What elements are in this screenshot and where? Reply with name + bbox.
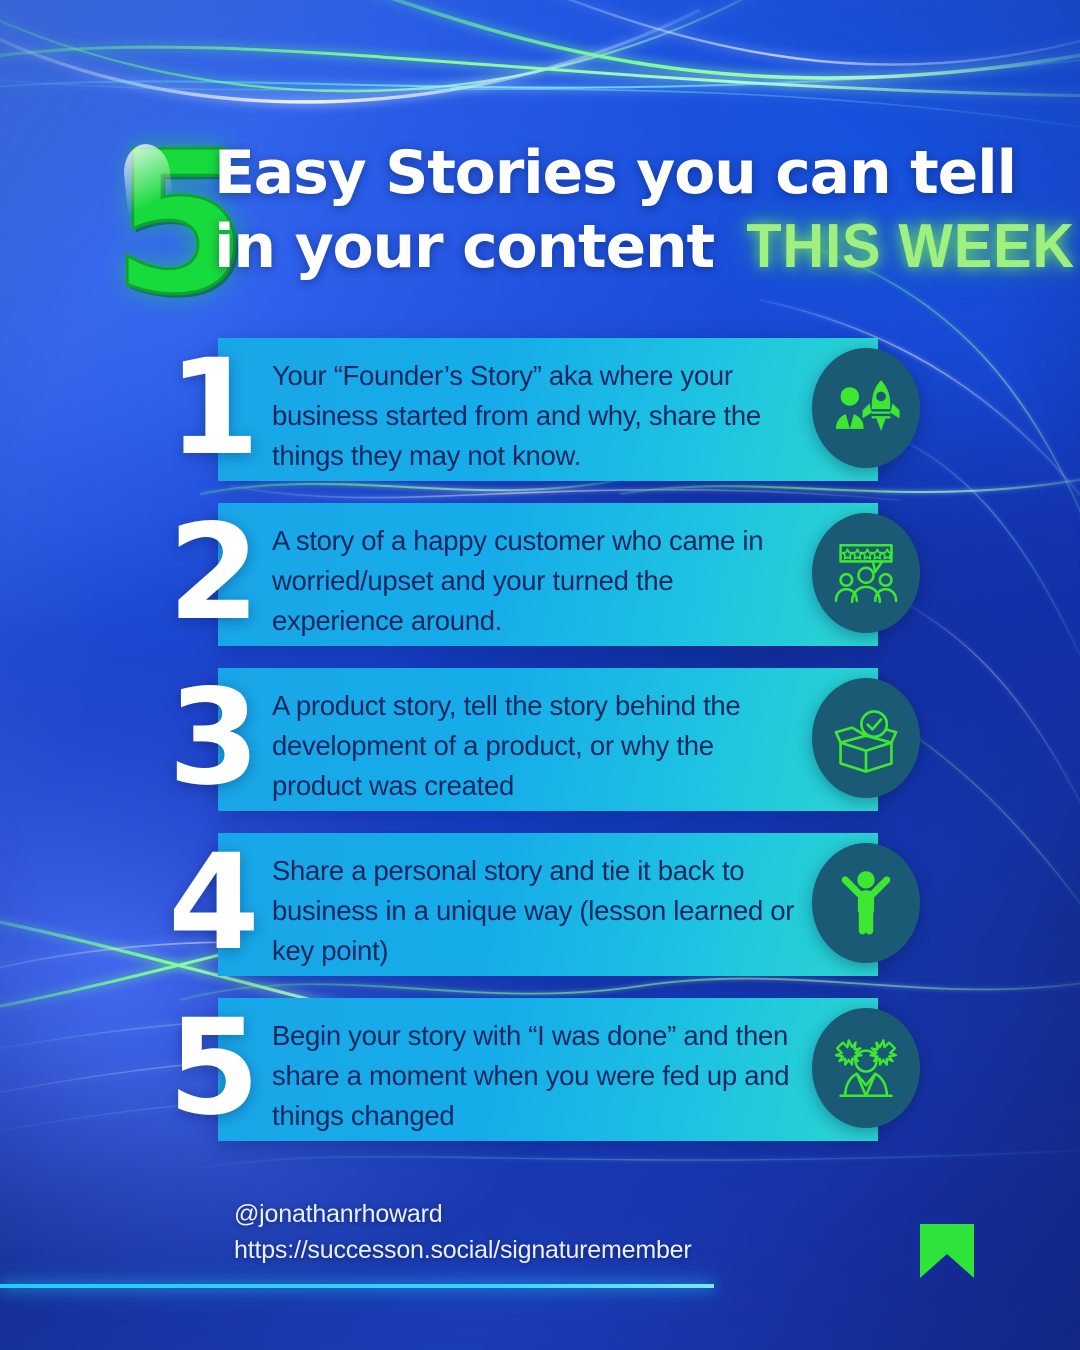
- tip-icon-2: [812, 513, 920, 633]
- tip-text-4: Share a personal story and tie it back t…: [272, 851, 802, 971]
- headline-line-1: Easy Stories you can tell: [214, 136, 1004, 210]
- tip-icon-5: [812, 1008, 920, 1128]
- footer-handle: @jonathanrhoward: [234, 1196, 692, 1232]
- tip-number-1: 1: [168, 342, 256, 474]
- founder-rocket-icon: [829, 371, 903, 445]
- celebrating-person-icon: [829, 866, 903, 940]
- bookmark-chevron-logo: [916, 1222, 978, 1280]
- list-item[interactable]: 3 A product story, tell the story behind…: [0, 668, 1080, 833]
- tip-text-1: Your “Founder’s Story” aka where your bu…: [272, 356, 802, 476]
- tip-text-2: A story of a happy customer who came in …: [272, 521, 802, 641]
- tip-icon-1: [812, 348, 920, 468]
- footer-url[interactable]: https://successon.social/signaturemember: [234, 1232, 692, 1268]
- tip-text-3: A product story, tell the story behind t…: [272, 686, 802, 806]
- headline-block: 5 Easy Stories you can tell in your cont…: [0, 132, 1080, 302]
- tip-number-2: 2: [168, 507, 256, 639]
- list-item[interactable]: 5 Begin your story with “I was done” and…: [0, 998, 1080, 1163]
- frustrated-person-icon: [829, 1031, 903, 1105]
- footer-credits: @jonathanrhoward https://successon.socia…: [234, 1196, 692, 1268]
- tip-icon-4: [812, 843, 920, 963]
- headline-text: Easy Stories you can tell in your conten…: [214, 136, 1004, 284]
- tips-list: 1 Your “Founder’s Story” aka where your …: [0, 338, 1080, 1163]
- list-item[interactable]: 1 Your “Founder’s Story” aka where your …: [0, 338, 1080, 503]
- five-star-review-people-icon: [829, 536, 903, 610]
- tip-number-5: 5: [168, 1002, 256, 1134]
- tip-text-5: Begin your story with “I was done” and t…: [272, 1016, 802, 1136]
- tip-number-4: 4: [168, 837, 256, 969]
- tip-number-3: 3: [168, 672, 256, 804]
- list-item[interactable]: 2 A story of a happy customer who came i…: [0, 503, 1080, 668]
- footer-divider: [0, 1284, 714, 1288]
- headline-accent-this-week: THIS WEEK: [746, 210, 1075, 284]
- headline-line-2: in your content THIS WEEK: [214, 210, 1004, 284]
- product-box-check-icon: [829, 701, 903, 775]
- headline-line-2-plain: in your content: [214, 212, 734, 282]
- list-item[interactable]: 4 Share a personal story and tie it back…: [0, 833, 1080, 998]
- tip-icon-3: [812, 678, 920, 798]
